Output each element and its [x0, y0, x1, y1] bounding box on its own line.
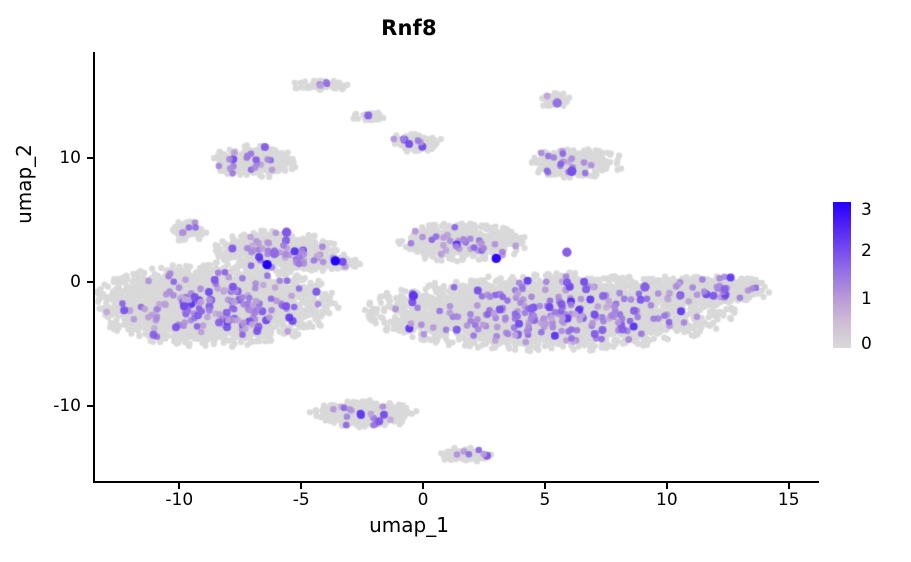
- y-tick: [87, 405, 93, 407]
- y-axis-label: umap_2: [12, 64, 36, 304]
- colorbar-tick: [851, 250, 855, 252]
- y-axis-spine: [93, 52, 95, 483]
- y-tick-label: -10: [53, 396, 81, 416]
- x-tick-label: -5: [293, 490, 310, 510]
- x-tick: [300, 483, 302, 489]
- colorbar-tick-label: 2: [861, 241, 872, 261]
- y-tick: [87, 281, 93, 283]
- colorbar-tick: [851, 201, 855, 203]
- y-tick-label: 10: [59, 148, 81, 168]
- scatter-canvas: [0, 0, 911, 562]
- colorbar-tick-label: 3: [861, 200, 872, 220]
- page-title: Rnf8: [0, 16, 818, 40]
- y-tick: [87, 157, 93, 159]
- x-tick: [178, 483, 180, 489]
- x-tick-label: 15: [778, 490, 800, 510]
- colorbar-tick-label: 0: [861, 334, 872, 354]
- x-tick-label: 5: [540, 490, 551, 510]
- x-tick: [544, 483, 546, 489]
- x-tick: [422, 483, 424, 489]
- x-tick-label: -10: [165, 490, 193, 510]
- y-tick-label: 0: [70, 272, 81, 292]
- colorbar-legend: 0123: [833, 202, 903, 350]
- x-axis-spine: [93, 481, 819, 483]
- x-tick: [788, 483, 790, 489]
- x-tick-label: 10: [656, 490, 678, 510]
- x-axis-label: umap_1: [0, 513, 818, 537]
- colorbar-gradient: [833, 202, 851, 348]
- x-tick: [666, 483, 668, 489]
- umap-feature-plot: Rnf8 -10-5051015-10010 umap_1 umap_2 012…: [0, 0, 911, 562]
- colorbar-tick-label: 1: [861, 289, 872, 309]
- x-tick-label: 0: [418, 490, 429, 510]
- colorbar-tick: [851, 298, 855, 300]
